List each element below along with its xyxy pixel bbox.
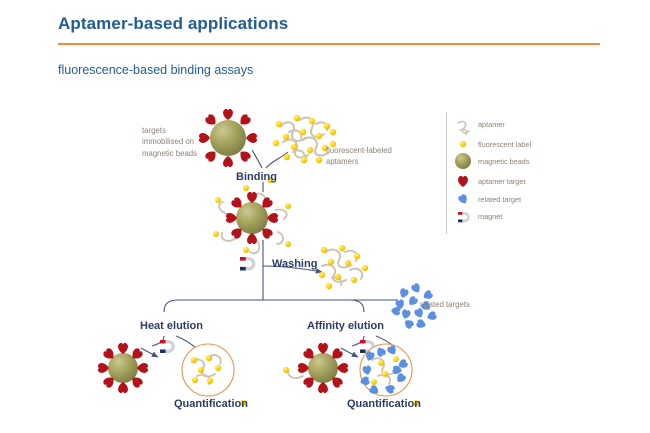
step-washing-label: Washing (272, 258, 317, 270)
affinity-elution-quantification-circle (359, 344, 412, 396)
magnet-washing-icon (240, 257, 256, 271)
aptamer-target-icon (458, 176, 468, 187)
step-heat-elution-label: Heat elution (140, 320, 203, 332)
heat-elution-bead (98, 343, 148, 393)
step-affinity-elution-label: Affinity elution (307, 320, 384, 332)
slide-canvas: Aptamer-based applications fluorescence-… (0, 0, 650, 433)
bead-aptamer-complex (213, 177, 291, 253)
legend-label-aptamer-target: aptamer target (478, 177, 525, 186)
legend-divider (446, 112, 447, 234)
fluorescent-label-icon (460, 141, 466, 147)
magnetic-bead-with-targets (199, 109, 257, 167)
washed-aptamers-cluster (319, 245, 368, 289)
magnet-heat-elution-icon (160, 340, 175, 353)
magnetic-beads-icon (455, 153, 471, 169)
heat-elution-quantification-circle (182, 344, 234, 396)
legend-label-related-target: related target (478, 195, 521, 204)
legend-label-fluorescent-label: fluorescent label (478, 140, 531, 149)
step-binding-label: Binding (236, 171, 277, 183)
affinity-elution-bead (283, 343, 348, 393)
legend-label-magnetic-beads: magnetic beads (478, 157, 530, 166)
legend-label-magnet: magnet (478, 212, 502, 221)
targets-immobilised-note: targets immobilised on magnetic beads (142, 125, 197, 159)
step-quantification-right-label: Quantification (347, 398, 421, 410)
assay-flow-diagram (0, 0, 650, 433)
magnet-icon (458, 212, 470, 222)
related-target-icon (457, 193, 469, 205)
step-quantification-left-label: Quantification (174, 398, 248, 410)
related-targets-note: related targets (420, 299, 470, 310)
legend-label-aptamer: aptamer (478, 120, 505, 129)
legend-icons (455, 122, 471, 223)
aptamer-icon (458, 122, 469, 134)
fluorescent-labeled-aptamers-note: fluorescent-labeled aptamers (326, 145, 392, 168)
